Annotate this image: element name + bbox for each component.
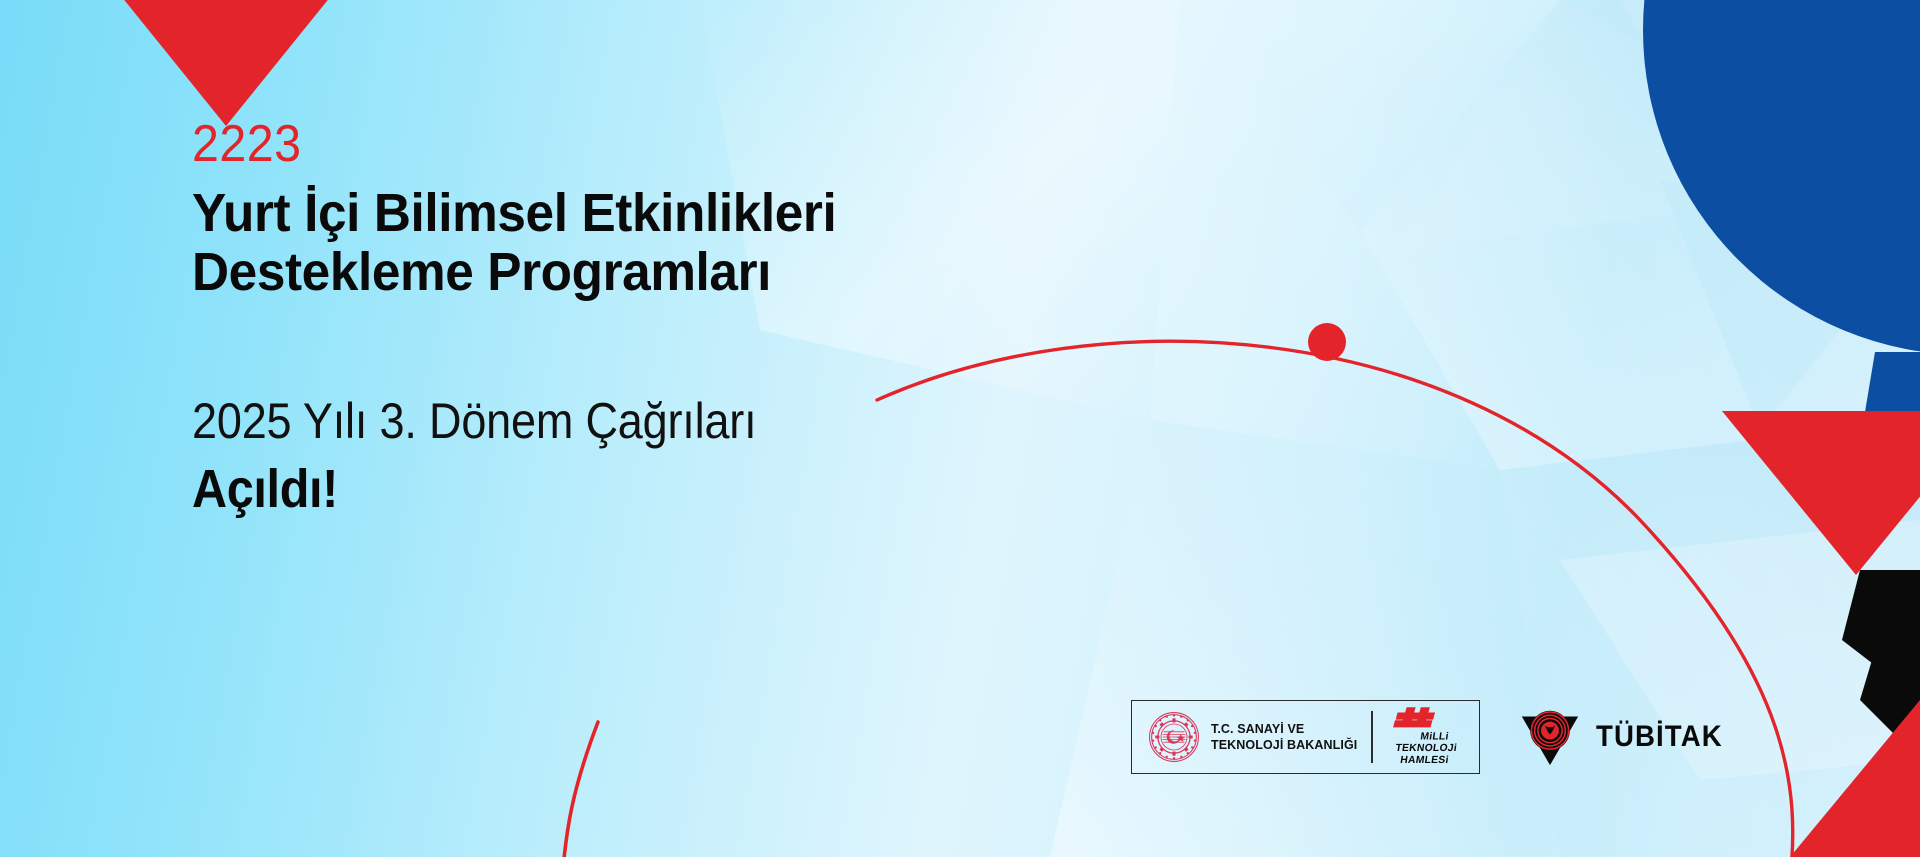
top-left-red-triangle [100,0,352,126]
bottom-right-red-wedge [1790,700,1920,857]
top-right-blue-circle [1643,0,1920,355]
subtitle-period: 2025 Yılı 3. Dönem Çağrıları [192,393,756,449]
tubitak-mark-icon [1518,706,1582,768]
right-red-triangle [1722,411,1920,575]
milli-teknoloji-hamlesi-logo: MiLLi TEKNOLOJi HAMLESi [1387,706,1465,768]
tubitak-logo: TÜBİTAK [1518,706,1734,768]
ministry-logo-box: T.C. SANAYİ VE TEKNOLOJİ BAKANLIĞI MiLLi… [1131,700,1480,774]
page-title: Yurt İçi Bilimsel Etkinlikleri Desteklem… [192,184,1009,302]
title-line-1: Yurt İçi Bilimsel Etkinlikleri [192,184,1009,243]
svg-text:MiLLi: MiLLi [1419,732,1449,743]
right-blue-wedge [1862,352,1920,470]
banner-text-block: 2223 Yurt İçi Bilimsel Etkinlikleri Dest… [192,118,1052,518]
logo-bar: T.C. SANAYİ VE TEKNOLOJİ BAKANLIĞI MiLLi… [1131,700,1734,774]
ministry-name-label: T.C. SANAYİ VE TEKNOLOJİ BAKANLIĞI [1211,721,1357,754]
title-line-2: Destekleme Programları [192,243,1009,302]
bottom-left-red-curve [562,722,598,857]
logo-divider [1371,711,1373,763]
program-code: 2223 [192,118,992,170]
subtitle-status: Açıldı! [192,461,966,518]
subtitle-block: 2025 Yılı 3. Dönem Çağrıları Açıldı! [192,394,966,518]
tubitak-wordmark: TÜBİTAK [1596,720,1723,754]
svg-text:TEKNOLOJi: TEKNOLOJi [1395,743,1458,754]
black-corner-shape [1860,600,1920,760]
red-arc-node [1308,323,1346,361]
svg-text:HAMLESi: HAMLESi [1399,755,1449,766]
ministry-emblem-icon [1148,711,1200,763]
bottom-right-red-triangle [1830,745,1920,857]
promotional-banner: 2223 Yurt İçi Bilimsel Etkinlikleri Dest… [0,0,1920,857]
right-black-triangle [1842,570,1920,700]
ministry-lockup: T.C. SANAYİ VE TEKNOLOJİ BAKANLIĞI [1148,711,1357,763]
